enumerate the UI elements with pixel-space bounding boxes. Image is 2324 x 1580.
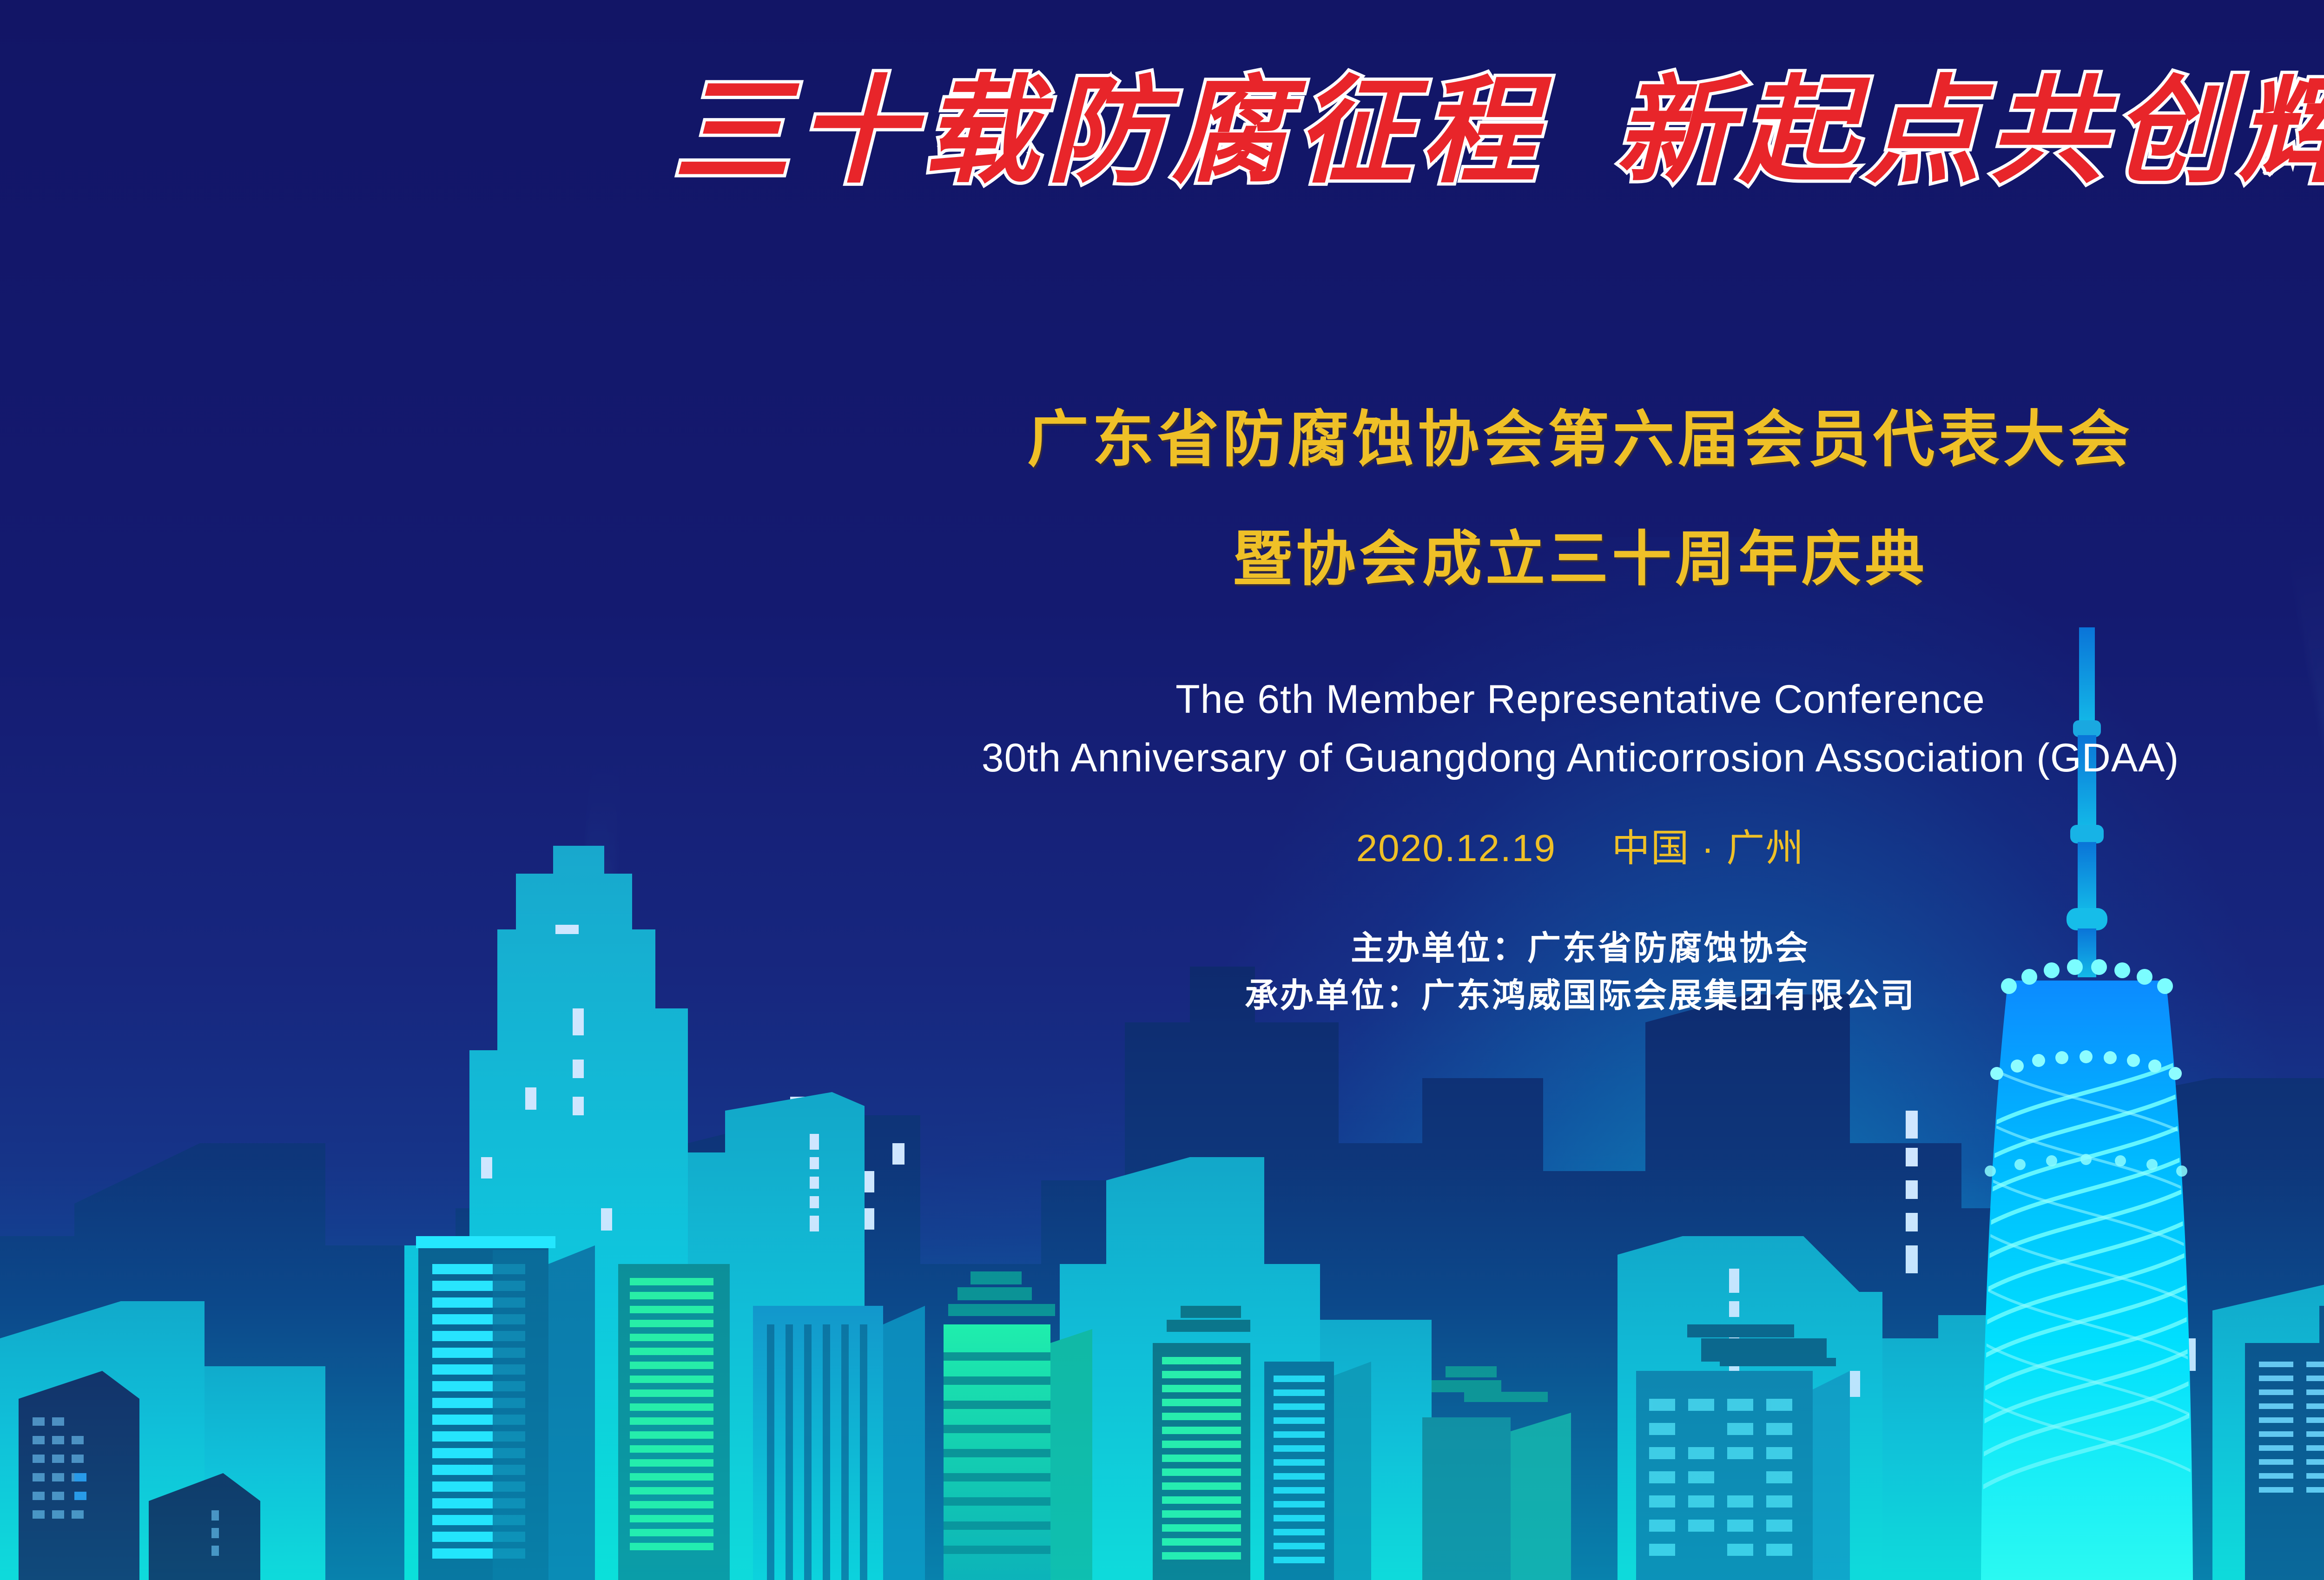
event-date: 2020.12.19 [1356,827,1556,869]
headline-left: 三十载防腐征程 [673,70,1545,192]
organizer-undertaker-label: 承办单位： [1245,977,1421,1014]
organizer-host-label: 主办单位： [1351,930,1527,967]
chinese-title-line1: 广东省防腐蚀协会第六届会员代表大会 [0,409,2324,470]
english-title-line1: The 6th Member Representative Conference [0,679,2324,719]
english-title-line2: 30th Anniversary of Guangdong Anticorros… [0,738,2324,778]
organizer-undertaker: 承办单位：广东鸿威国际会展集团有限公司 [0,972,2324,1020]
organizers: 主办单位：广东省防腐蚀协会 承办单位：广东鸿威国际会展集团有限公司 [0,925,2324,1020]
organizer-undertaker-name: 广东鸿威国际会展集团有限公司 [1421,977,1916,1014]
conference-banner: 三十载防腐征程 新起点共创辉煌 广东省防腐蚀协会第六届会员代表大会 暨协会成立三… [0,0,2324,1580]
event-date-location: 2020.12.19 中国 · 广州 [0,829,2324,868]
event-location: 中国 · 广州 [1612,827,1805,869]
headline-right: 新起点共创辉煌 [1615,70,2324,192]
chinese-title-line2: 暨协会成立三十周年庆典 [0,530,2324,589]
headline: 三十载防腐征程 新起点共创辉煌 [0,70,2324,192]
organizer-host-name: 广东省防腐蚀协会 [1527,930,1810,967]
organizer-host: 主办单位：广东省防腐蚀协会 [0,925,2324,972]
skyline-near [0,1046,2324,1580]
